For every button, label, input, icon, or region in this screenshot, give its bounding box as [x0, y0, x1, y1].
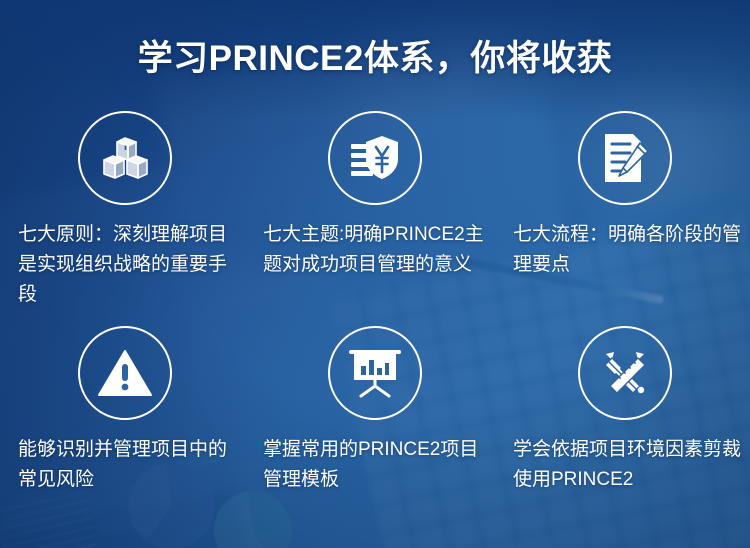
benefit-icon-wrap — [0, 323, 250, 423]
icon-circle — [78, 326, 172, 420]
poster-content: 学习PRINCE2体系，你将收获 — [0, 0, 750, 548]
benefits-row-2: 能够识别并管理项目中的常见风险 — [0, 323, 750, 538]
icon-circle — [578, 326, 672, 420]
boxes-icon — [98, 132, 152, 184]
icon-circle — [328, 326, 422, 420]
benefits-row-1: 七大原则：深刻理解项目是实现组织战略的重要手段 — [0, 108, 750, 323]
benefits-grid: 七大原则：深刻理解项目是实现组织战略的重要手段 — [0, 108, 750, 538]
benefit-icon-wrap — [500, 323, 750, 423]
benefit-text: 七大原则：深刻理解项目是实现组织战略的重要手段 — [0, 208, 250, 310]
benefit-text: 掌握常用的PRINCE2项目管理模板 — [250, 423, 500, 495]
benefit-icon-wrap — [500, 108, 750, 208]
benefit-text: 学会依据项目环境因素剪裁使用PRINCE2 — [500, 423, 750, 495]
promo-poster: 学习PRINCE2体系，你将收获 — [0, 0, 750, 548]
benefit-icon-wrap — [0, 108, 250, 208]
page-title: 学习PRINCE2体系，你将收获 — [0, 30, 750, 81]
shield-yen-icon — [348, 133, 402, 183]
benefit-item-4: 能够识别并管理项目中的常见风险 — [0, 323, 250, 538]
pencil-ruler-icon — [597, 345, 653, 401]
warning-triangle-icon — [97, 348, 153, 398]
benefit-item-3: 七大流程：明确各阶段的管理要点 — [500, 108, 750, 323]
benefit-icon-wrap — [250, 108, 500, 208]
icon-circle — [78, 111, 172, 205]
benefit-text: 七大主题:明确PRINCE2主题对成功项目管理的意义 — [250, 208, 500, 280]
icon-circle — [328, 111, 422, 205]
benefit-icon-wrap — [250, 323, 500, 423]
benefit-item-5: 掌握常用的PRINCE2项目管理模板 — [250, 323, 500, 538]
presentation-chart-icon — [347, 348, 403, 398]
benefit-item-1: 七大原则：深刻理解项目是实现组织战略的重要手段 — [0, 108, 250, 323]
benefit-text: 七大流程：明确各阶段的管理要点 — [500, 208, 750, 280]
benefit-item-2: 七大主题:明确PRINCE2主题对成功项目管理的意义 — [250, 108, 500, 323]
benefit-item-6: 学会依据项目环境因素剪裁使用PRINCE2 — [500, 323, 750, 538]
benefit-text: 能够识别并管理项目中的常见风险 — [0, 423, 250, 495]
icon-circle — [578, 111, 672, 205]
document-pencil-icon — [600, 131, 650, 185]
